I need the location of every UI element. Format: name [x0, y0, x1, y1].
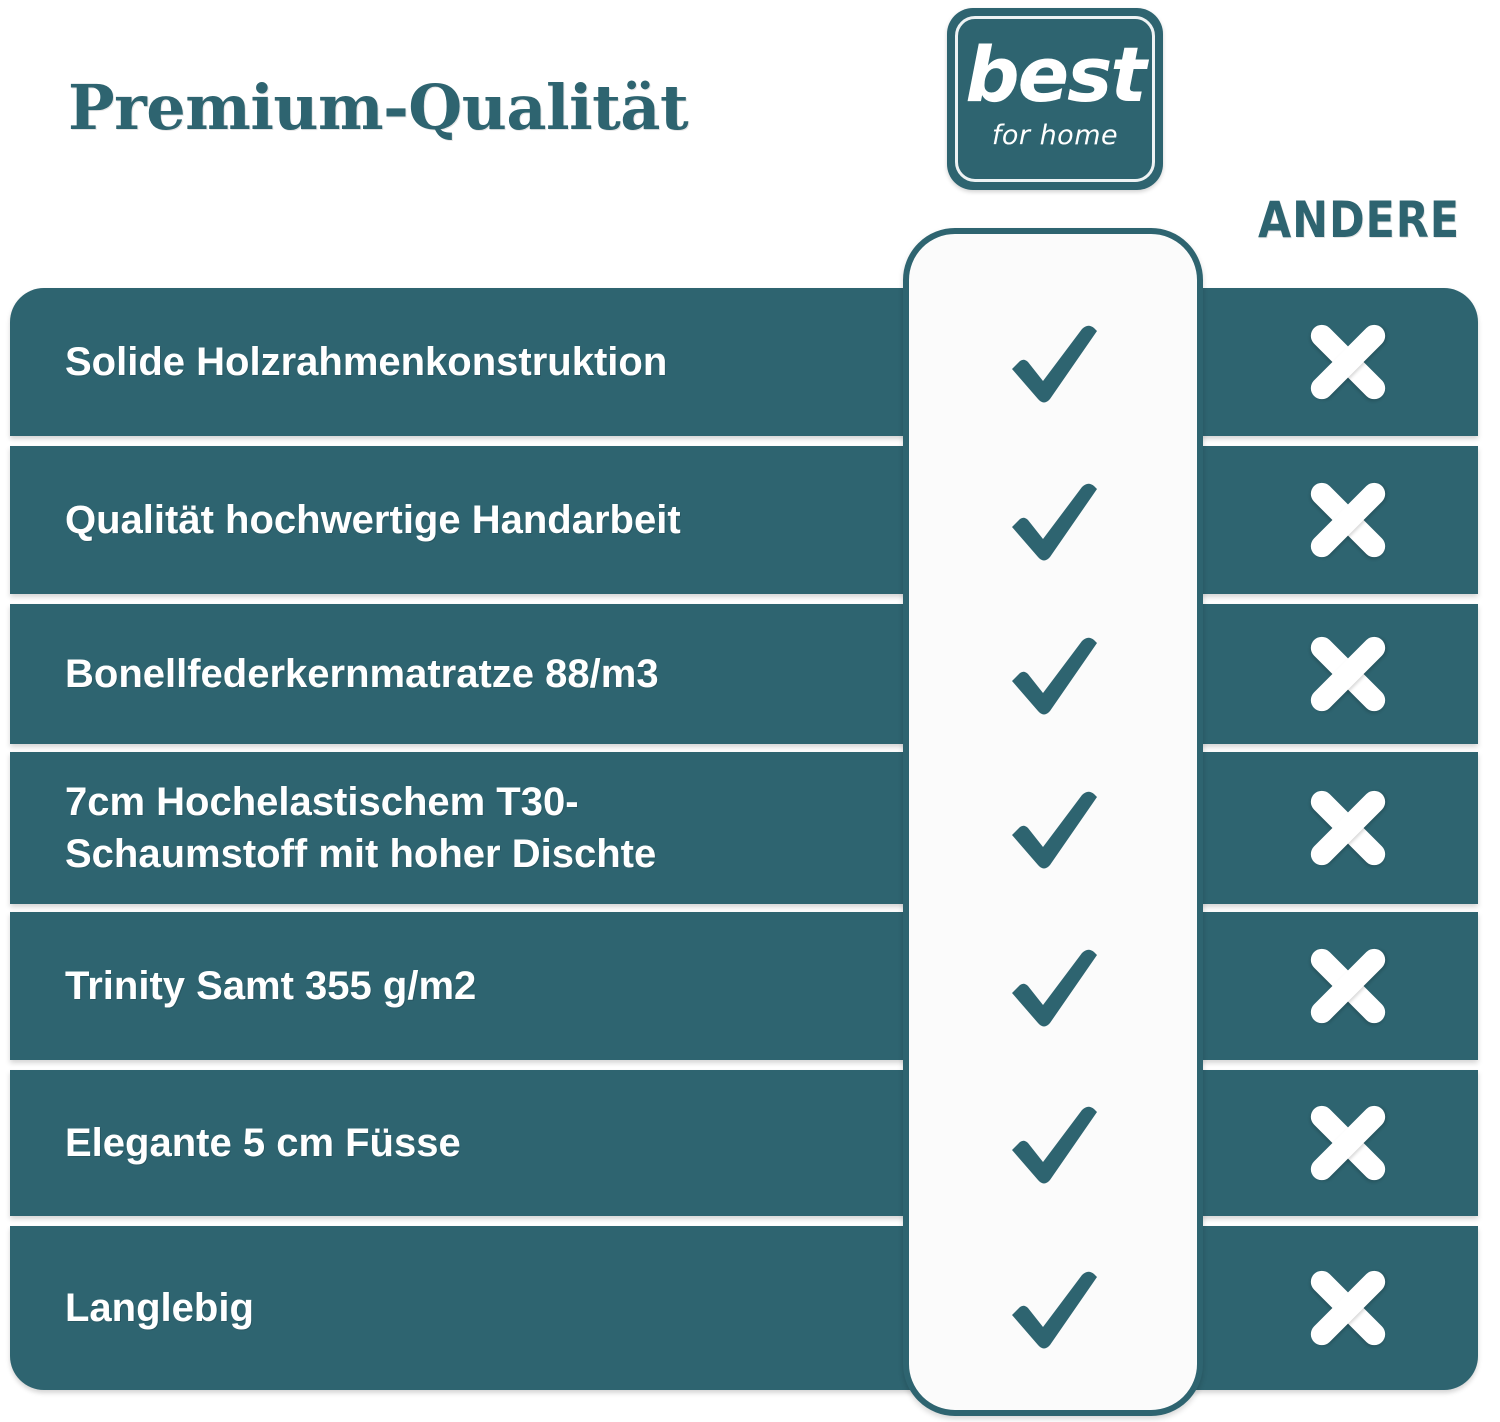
feature-label: Solide Holzrahmenkonstruktion: [65, 336, 667, 388]
x-icon: [1300, 1095, 1396, 1191]
x-icon: [1300, 626, 1396, 722]
comparison-infographic: Premium-Qualität best for home ANDERE So…: [0, 0, 1500, 1422]
table-row: Trinity Samt 355 g/m2: [10, 912, 1478, 1060]
feature-label: Trinity Samt 355 g/m2: [65, 960, 476, 1012]
feature-label: 7cm Hochelastischem T30- Schaumstoff mit…: [65, 776, 656, 880]
x-icon: [1300, 314, 1396, 410]
x-icon: [1300, 780, 1396, 876]
feature-rows: Solide HolzrahmenkonstruktionQualität ho…: [0, 0, 1500, 1422]
ours-column-panel: [903, 228, 1203, 1416]
table-row: Solide Holzrahmenkonstruktion: [10, 288, 1478, 436]
feature-label: Qualität hochwertige Handarbeit: [65, 494, 681, 546]
table-row: Qualität hochwertige Handarbeit: [10, 446, 1478, 594]
table-row: Bonellfederkernmatratze 88/m3: [10, 604, 1478, 744]
feature-label: Bonellfederkernmatratze 88/m3: [65, 648, 659, 700]
feature-label: Langlebig: [65, 1282, 254, 1334]
x-icon: [1300, 472, 1396, 568]
table-row: 7cm Hochelastischem T30- Schaumstoff mit…: [10, 752, 1478, 904]
table-row: Langlebig: [10, 1226, 1478, 1390]
x-icon: [1300, 938, 1396, 1034]
x-icon: [1300, 1260, 1396, 1356]
table-row: Elegante 5 cm Füsse: [10, 1070, 1478, 1216]
feature-label: Elegante 5 cm Füsse: [65, 1117, 461, 1169]
